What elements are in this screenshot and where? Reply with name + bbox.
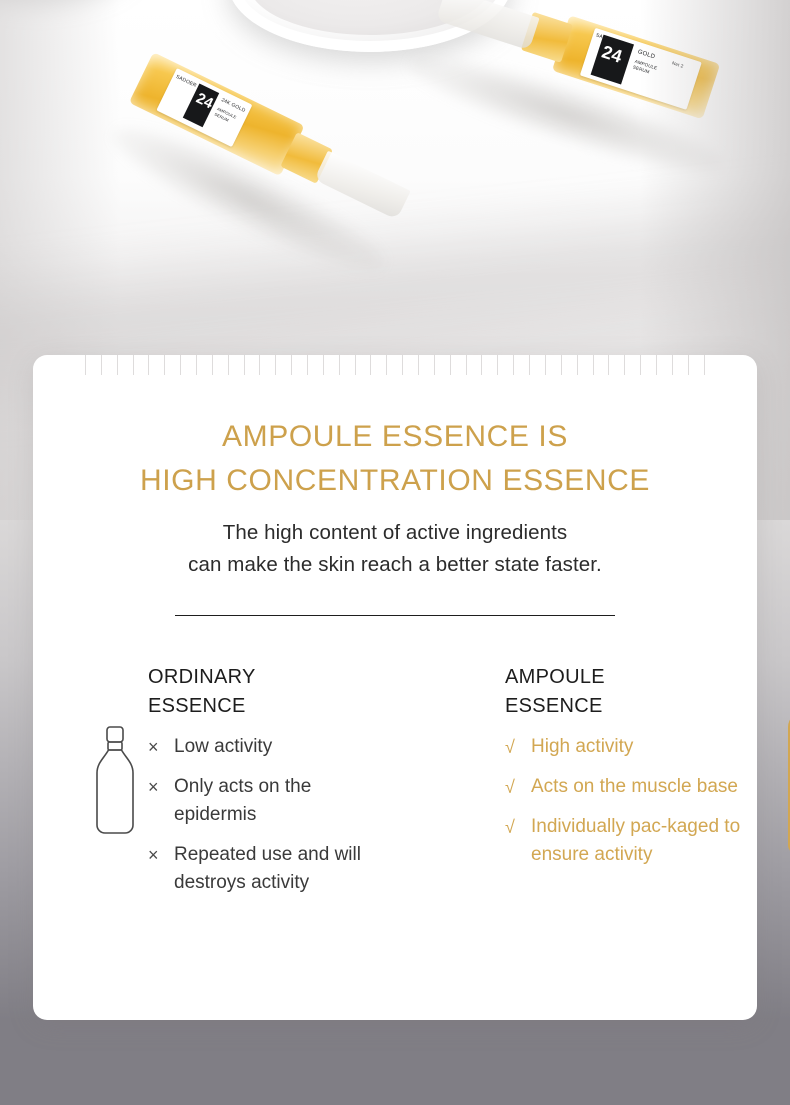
column-ampoule-essence: AMPOULE ESSENCE √ High activity √ Acts o… (395, 663, 757, 909)
check-icon: √ (505, 773, 515, 801)
check-icon: √ (505, 733, 515, 761)
card-subtitle-line1: The high content of active ingredients (223, 521, 568, 544)
list-item: √ High activity (505, 733, 757, 761)
ampoule-essence-title: AMPOULE ESSENCE (505, 663, 757, 721)
info-card: AMPOULE ESSENCE IS HIGH CONCENTRATION ES… (33, 355, 757, 1020)
card-headline-line1: AMPOULE ESSENCE IS (222, 420, 568, 453)
list-item: × Low activity (148, 733, 395, 761)
ordinary-essence-title: ORDINARY ESSENCE (148, 663, 395, 721)
cross-icon: × (148, 773, 159, 801)
ordinary-item-2: Repeated use and will destroys activity (174, 844, 361, 893)
ordinary-item-1: Only acts on the epidermis (174, 776, 311, 825)
list-item: √ Acts on the muscle base (505, 773, 757, 801)
ampoule-essence-title-line2: ESSENCE (505, 695, 603, 717)
comparison-section: ORDINARY ESSENCE × Low activity × Only a… (33, 663, 757, 909)
cross-icon: × (148, 841, 159, 869)
card-headline-line2: HIGH CONCENTRATION ESSENCE (140, 464, 650, 497)
ordinary-essence-title-line2: ESSENCE (148, 695, 246, 717)
ordinary-essence-title-line1: ORDINARY (148, 666, 256, 688)
bottom-band (0, 1020, 790, 1105)
ampoule-essence-title-line1: AMPOULE (505, 666, 605, 688)
list-item: × Only acts on the epidermis (148, 773, 395, 829)
card-subtitle-line2: can make the skin reach a better state f… (188, 553, 602, 576)
cross-icon: × (148, 733, 159, 761)
ampoule-item-0: High activity (531, 736, 633, 757)
ordinary-item-0: Low activity (174, 736, 272, 757)
ampoule-vial-left-label-brand: SADOER (175, 74, 198, 89)
card-headline: AMPOULE ESSENCE IS HIGH CONCENTRATION ES… (33, 355, 757, 503)
ampoule-item-1: Acts on the muscle base (531, 776, 738, 797)
ampoule-vial-left-tip (314, 151, 411, 220)
ampoule-vial-right-tip (436, 0, 540, 50)
list-item: √ Individually pac-kaged to ensure activ… (505, 813, 757, 869)
ampoule-icon (775, 683, 790, 863)
list-item: × Repeated use and will destroys activit… (148, 841, 395, 897)
column-ordinary-essence: ORDINARY ESSENCE × Low activity × Only a… (33, 663, 395, 909)
ordinary-essence-list: × Low activity × Only acts on the epider… (148, 733, 395, 897)
check-icon: √ (505, 813, 515, 841)
card-subtitle: The high content of active ingredients c… (33, 517, 757, 581)
ampoule-item-2: Individually pac-kaged to ensure activit… (531, 816, 740, 865)
product-infographic-page: 24 SADOER 24K GOLD AMPOULE SERUM 24 SADO… (0, 0, 790, 1105)
dropper-bottle-icon (88, 725, 142, 837)
card-divider (175, 615, 615, 616)
ampoule-essence-list: √ High activity √ Acts on the muscle bas… (505, 733, 757, 869)
